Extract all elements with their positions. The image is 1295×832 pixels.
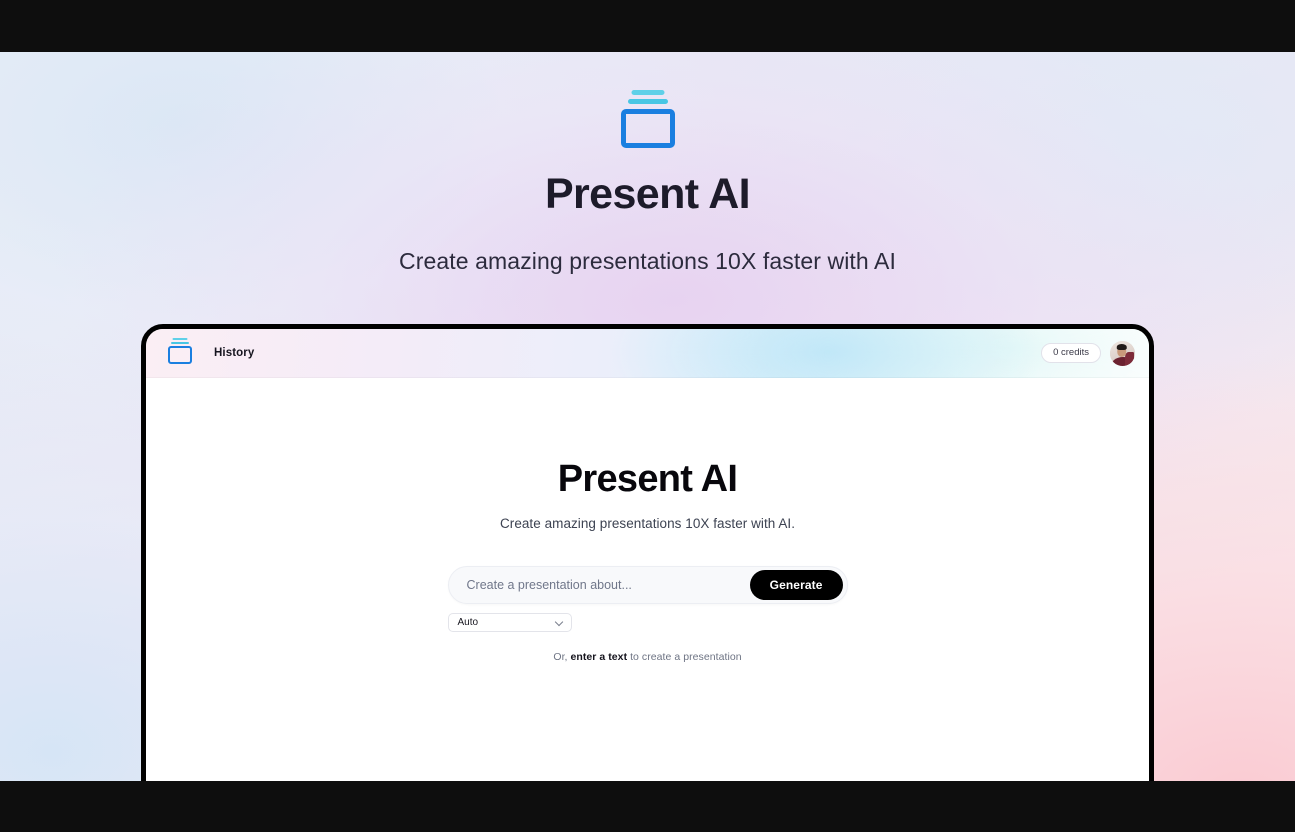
app-subtitle: Create amazing presentations 10X faster …: [500, 516, 795, 531]
browser-chrome-bottom: [0, 781, 1295, 832]
prompt-input[interactable]: [467, 578, 750, 592]
app-header: History 0 credits: [146, 329, 1149, 378]
generate-button[interactable]: Generate: [750, 570, 843, 600]
page-root: Present AI Create amazing presentations …: [0, 0, 1295, 832]
app-title: Present AI: [558, 460, 738, 500]
browser-chrome-top: [0, 0, 1295, 52]
device-mockup-frame: History 0 credits Present AI Cr: [141, 324, 1154, 781]
page-title: Present AI: [0, 170, 1295, 219]
app-body: Present AI Create amazing presentations …: [146, 378, 1149, 781]
card-stack-icon: [621, 90, 675, 148]
mode-select[interactable]: Auto: [448, 613, 572, 632]
chevron-down-icon: [556, 618, 564, 626]
mode-row: Auto: [448, 613, 848, 632]
app-logo-icon-bar-mid: [171, 342, 189, 344]
header-right-group: 0 credits: [1041, 341, 1135, 366]
page-subtitle: Create amazing presentations 10X faster …: [0, 248, 1295, 275]
prompt-bar: Generate: [448, 566, 848, 604]
history-link[interactable]: History: [214, 347, 254, 359]
mode-select-value: Auto: [458, 617, 479, 628]
credits-badge[interactable]: 0 credits: [1041, 343, 1101, 364]
app-logo-icon[interactable]: [168, 338, 192, 364]
card-stack-icon-bar-mid: [628, 99, 668, 104]
enter-a-text-link[interactable]: enter a text: [571, 651, 628, 663]
card-stack-icon-bar-top: [631, 90, 664, 95]
alt-entry-prefix: Or,: [553, 651, 570, 663]
hero-logo: [0, 90, 1295, 148]
avatar[interactable]: [1110, 341, 1135, 366]
app-logo-icon-card: [168, 346, 192, 364]
card-stack-icon-card: [621, 109, 675, 148]
alt-entry-suffix: to create a presentation: [627, 651, 742, 663]
alt-entry-text: Or, enter a text to create a presentatio…: [553, 651, 741, 663]
avatar-hair: [1117, 344, 1128, 350]
app-main-content: Present AI Create amazing presentations …: [146, 460, 1149, 663]
app-logo-icon-bar-top: [173, 338, 188, 340]
hero-section: Present AI Create amazing presentations …: [0, 52, 1295, 781]
